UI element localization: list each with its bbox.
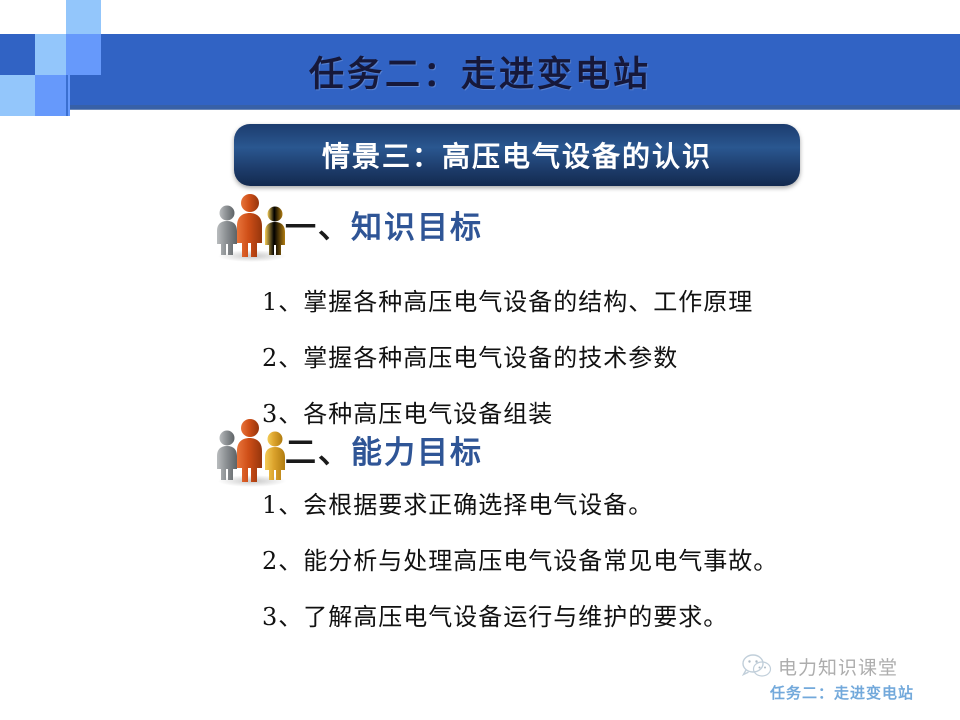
scenario-banner: 情景三：高压电气设备的认识 <box>234 124 800 186</box>
watermark-label: 电力知识课堂 <box>778 653 898 680</box>
section-name: 能力目标 <box>351 435 483 471</box>
section-title: 一、知识目标 <box>285 202 483 247</box>
three-people-icon <box>212 190 292 262</box>
list-item: 1、会根据要求正确选择电气设备。 <box>262 485 778 520</box>
section-name: 知识目标 <box>351 210 483 246</box>
list-item: 1、掌握各种高压电气设备的结构、工作原理 <box>262 282 753 317</box>
wechat-logo-icon <box>742 653 772 679</box>
list-item: 3、了解高压电气设备运行与维护的要求。 <box>262 597 778 632</box>
list-item: 2、能分析与处理高压电气设备常见电气事故。 <box>262 541 778 576</box>
section-number: 二、 <box>285 435 351 471</box>
ability-goal-list: 1、会根据要求正确选择电气设备。 2、能分析与处理高压电气设备常见电气事故。 3… <box>262 485 778 653</box>
footer-note: 任务二：走进变电站 <box>770 682 914 703</box>
section-title: 二、能力目标 <box>285 427 483 472</box>
watermark: 电力知识课堂 <box>742 648 952 684</box>
list-item: 2、掌握各种高压电气设备的技术参数 <box>262 338 753 373</box>
three-people-icon <box>212 415 292 487</box>
scenario-banner-label: 情景三：高压电气设备的认识 <box>322 135 712 175</box>
slide-root: { "header": { "title": "任务二：走进变电站", "bar… <box>0 0 960 720</box>
list-item: 3、各种高压电气设备组装 <box>262 394 753 429</box>
knowledge-goal-list: 1、掌握各种高压电气设备的结构、工作原理 2、掌握各种高压电气设备的技术参数 3… <box>262 282 753 450</box>
page-title: 任务二：走进变电站 <box>0 34 960 109</box>
section-number: 一、 <box>285 210 351 246</box>
